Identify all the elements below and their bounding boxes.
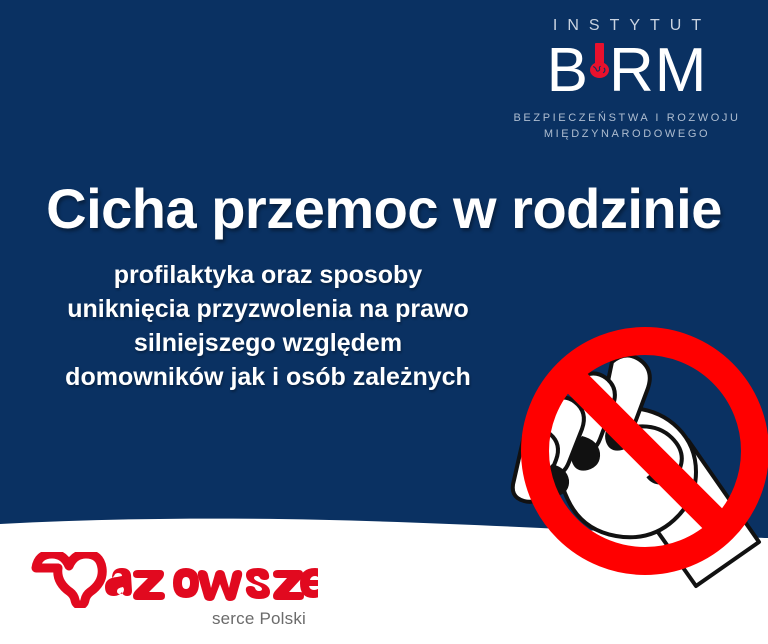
subtitle-line-2: uniknięcia przyzwolenia na prawo [18,292,518,326]
globe-icon [590,25,609,41]
mazowsze-logo: serce Polski [28,552,328,629]
poster-subtitle: profilaktyka oraz sposoby uniknięcia prz… [18,258,518,394]
subtitle-line-3: silniejszego względem [18,326,518,360]
subtitle-line-4: domowników jak i osób zależnych [18,360,518,394]
birm-subtitle-line1: BEZPIECZEŃSTWA I ROZWOJU [512,110,742,126]
birm-institute-word: INSTYTUT [512,18,742,34]
poster-canvas: INSTYTUT BRM BEZPIECZEŃSTWA I ROZWOJU MI… [0,0,768,644]
mazowsze-wordmark-mark [28,552,318,608]
birm-acronym: BRM [512,38,742,104]
birm-letters-rm: RM [609,38,707,104]
no-violence-icon [508,318,768,590]
birm-subtitle-line2: MIĘDZYNARODOWEGO [512,126,742,142]
poster-headline: Cicha przemoc w rodzinie [0,176,768,241]
mazowsze-tagline: serce Polski [28,609,306,629]
subtitle-line-1: profilaktyka oraz sposoby [18,258,518,292]
birm-letter-b: B [547,38,589,104]
birm-logo: INSTYTUT BRM BEZPIECZEŃSTWA I ROZWOJU MI… [512,18,742,142]
